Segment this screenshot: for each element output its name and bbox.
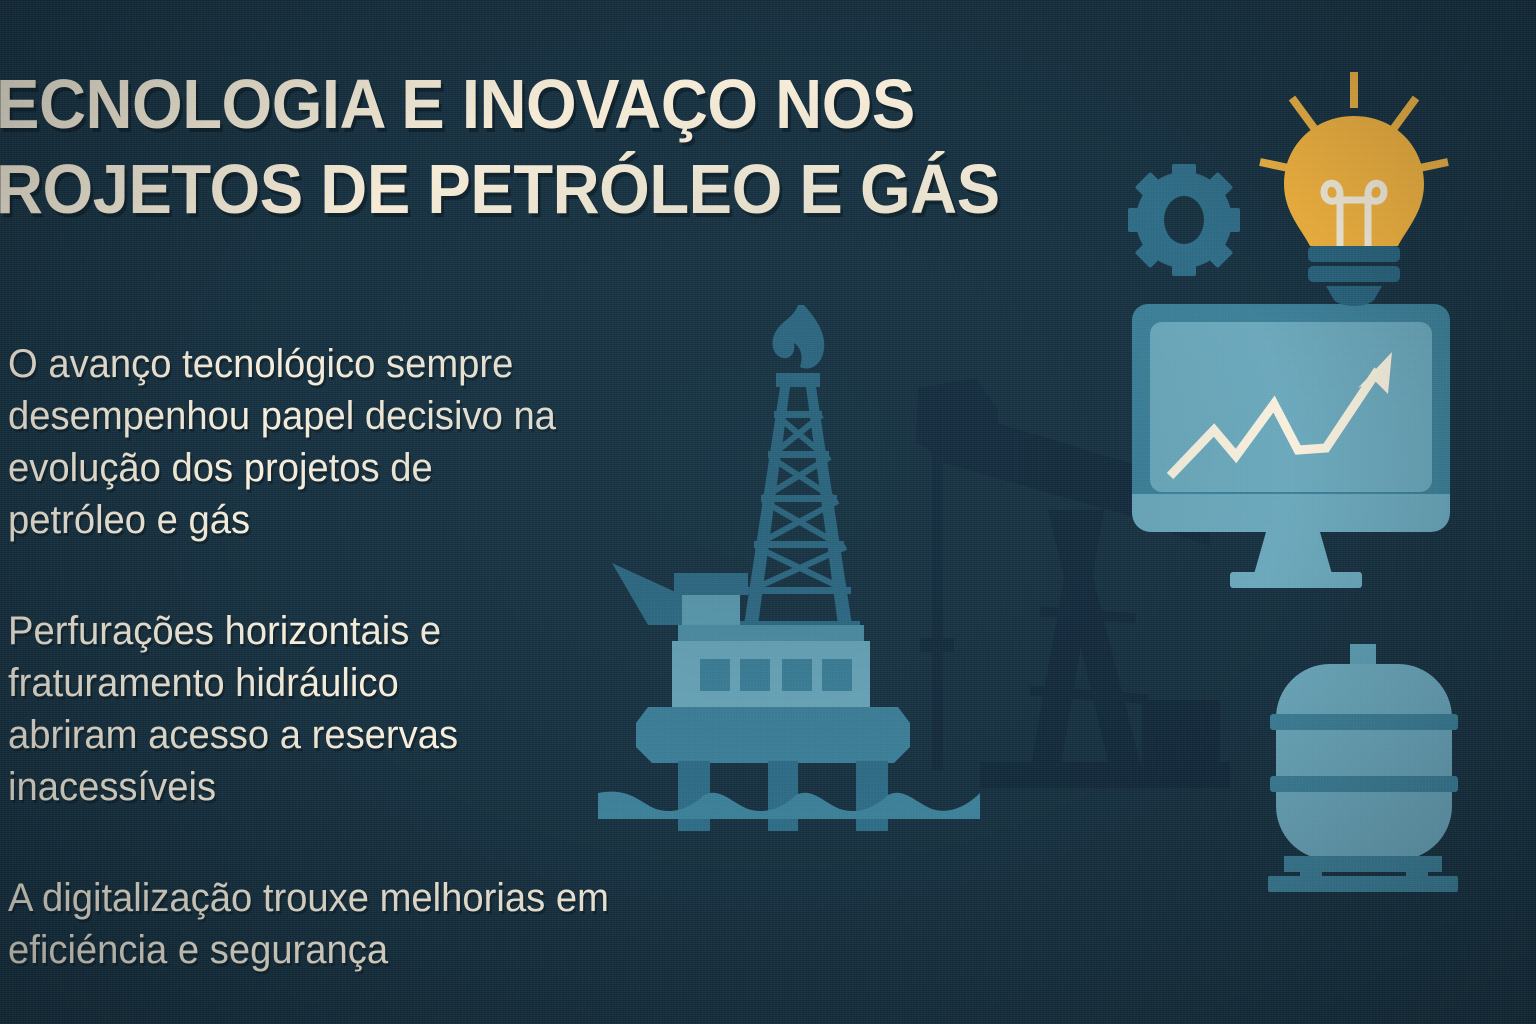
flame-icon <box>773 305 825 369</box>
bulb-base <box>1308 246 1400 306</box>
paragraph-tech-advance: O avanço tecnológico sempre desempenhou … <box>8 338 677 546</box>
monitor-neck <box>1254 532 1332 574</box>
tank-body <box>1276 664 1452 860</box>
monitor-chin <box>1132 494 1450 532</box>
monitor-chart-icon <box>1126 298 1466 590</box>
tank-stand <box>1268 856 1458 892</box>
monitor-screen <box>1150 322 1432 492</box>
gear-icon <box>1126 162 1242 278</box>
bulb-glass <box>1284 116 1424 246</box>
text-column: ECNOLOGIA E INOVAÇO NOS ROJETOS DE PETRÓ… <box>0 0 1090 233</box>
paragraph-digitalization: A digitalização trouxe melhorias em efic… <box>8 872 762 976</box>
monitor-base <box>1230 572 1362 588</box>
lightbulb-icon <box>1248 66 1460 298</box>
page-title: ECNOLOGIA E INOVAÇO NOS ROJETOS DE PETRÓ… <box>0 0 1013 233</box>
gas-tank-icon <box>1256 636 1472 892</box>
infographic-canvas: ECNOLOGIA E INOVAÇO NOS ROJETOS DE PETRÓ… <box>0 0 1536 1024</box>
paragraph-drilling: Perfurações horizontais e fraturamento h… <box>8 605 562 813</box>
rig-deck <box>636 707 910 763</box>
